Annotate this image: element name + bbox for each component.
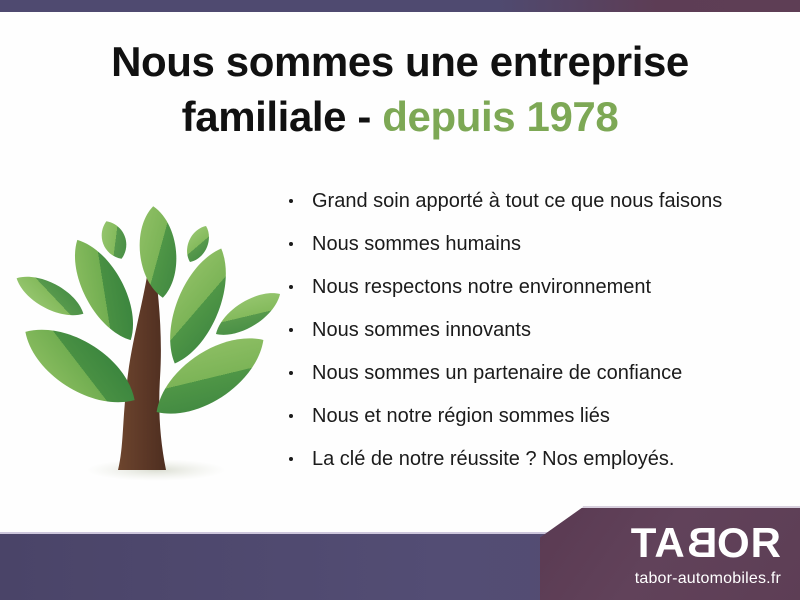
list-item: Nous et notre région sommes liés	[286, 405, 786, 428]
list-item-label: Nous sommes innovants	[312, 319, 531, 341]
top-accent-bar	[0, 0, 800, 12]
bullet-icon	[289, 371, 293, 375]
bullet-icon	[289, 457, 293, 461]
list-item: Nous sommes un partenaire de confiance	[286, 362, 786, 385]
bullet-icon	[289, 285, 293, 289]
list-item-label: La clé de notre réussite ? Nos employés.	[312, 448, 674, 470]
brand-website-url: tabor-automobiles.fr	[635, 570, 781, 588]
wordmark-flipped-b: B	[686, 522, 717, 564]
wordmark-part-before: TA	[631, 519, 686, 566]
slide-canvas: Nous sommes une entreprise familiale - d…	[0, 0, 800, 600]
list-item-label: Nous respectons notre environnement	[312, 276, 651, 298]
bullet-icon	[289, 242, 293, 246]
list-item-label: Nous sommes un partenaire de confiance	[312, 362, 682, 384]
list-item-label: Nous sommes humains	[312, 233, 521, 255]
headline-line-1: Nous sommes une entreprise	[111, 38, 689, 85]
list-item: Nous sommes humains	[286, 233, 786, 256]
list-item: La clé de notre réussite ? Nos employés.	[286, 448, 786, 471]
bullet-icon	[289, 328, 293, 332]
wordmark-part-after: OR	[717, 519, 782, 566]
list-item: Grand soin apporté à tout ce que nous fa…	[286, 190, 786, 213]
brand-logo-panel: TABOR tabor-automobiles.fr	[540, 508, 800, 600]
list-item-label: Nous et notre région sommes liés	[312, 405, 610, 427]
bullet-icon	[289, 199, 293, 203]
list-item: Nous respectons notre environnement	[286, 276, 786, 299]
brand-wordmark: TABOR	[631, 522, 782, 564]
value-list: Grand soin apporté à tout ce que nous fa…	[286, 190, 786, 471]
headline-accent: depuis 1978	[382, 93, 618, 140]
bullet-icon	[289, 414, 293, 418]
headline-line-2-plain: familiale -	[182, 93, 383, 140]
tree-icon	[8, 178, 288, 498]
list-item-label: Grand soin apporté à tout ce que nous fa…	[312, 190, 722, 212]
page-title: Nous sommes une entreprise familiale - d…	[0, 34, 800, 145]
list-item: Nous sommes innovants	[286, 319, 786, 342]
logo-panel-divider	[582, 506, 800, 508]
